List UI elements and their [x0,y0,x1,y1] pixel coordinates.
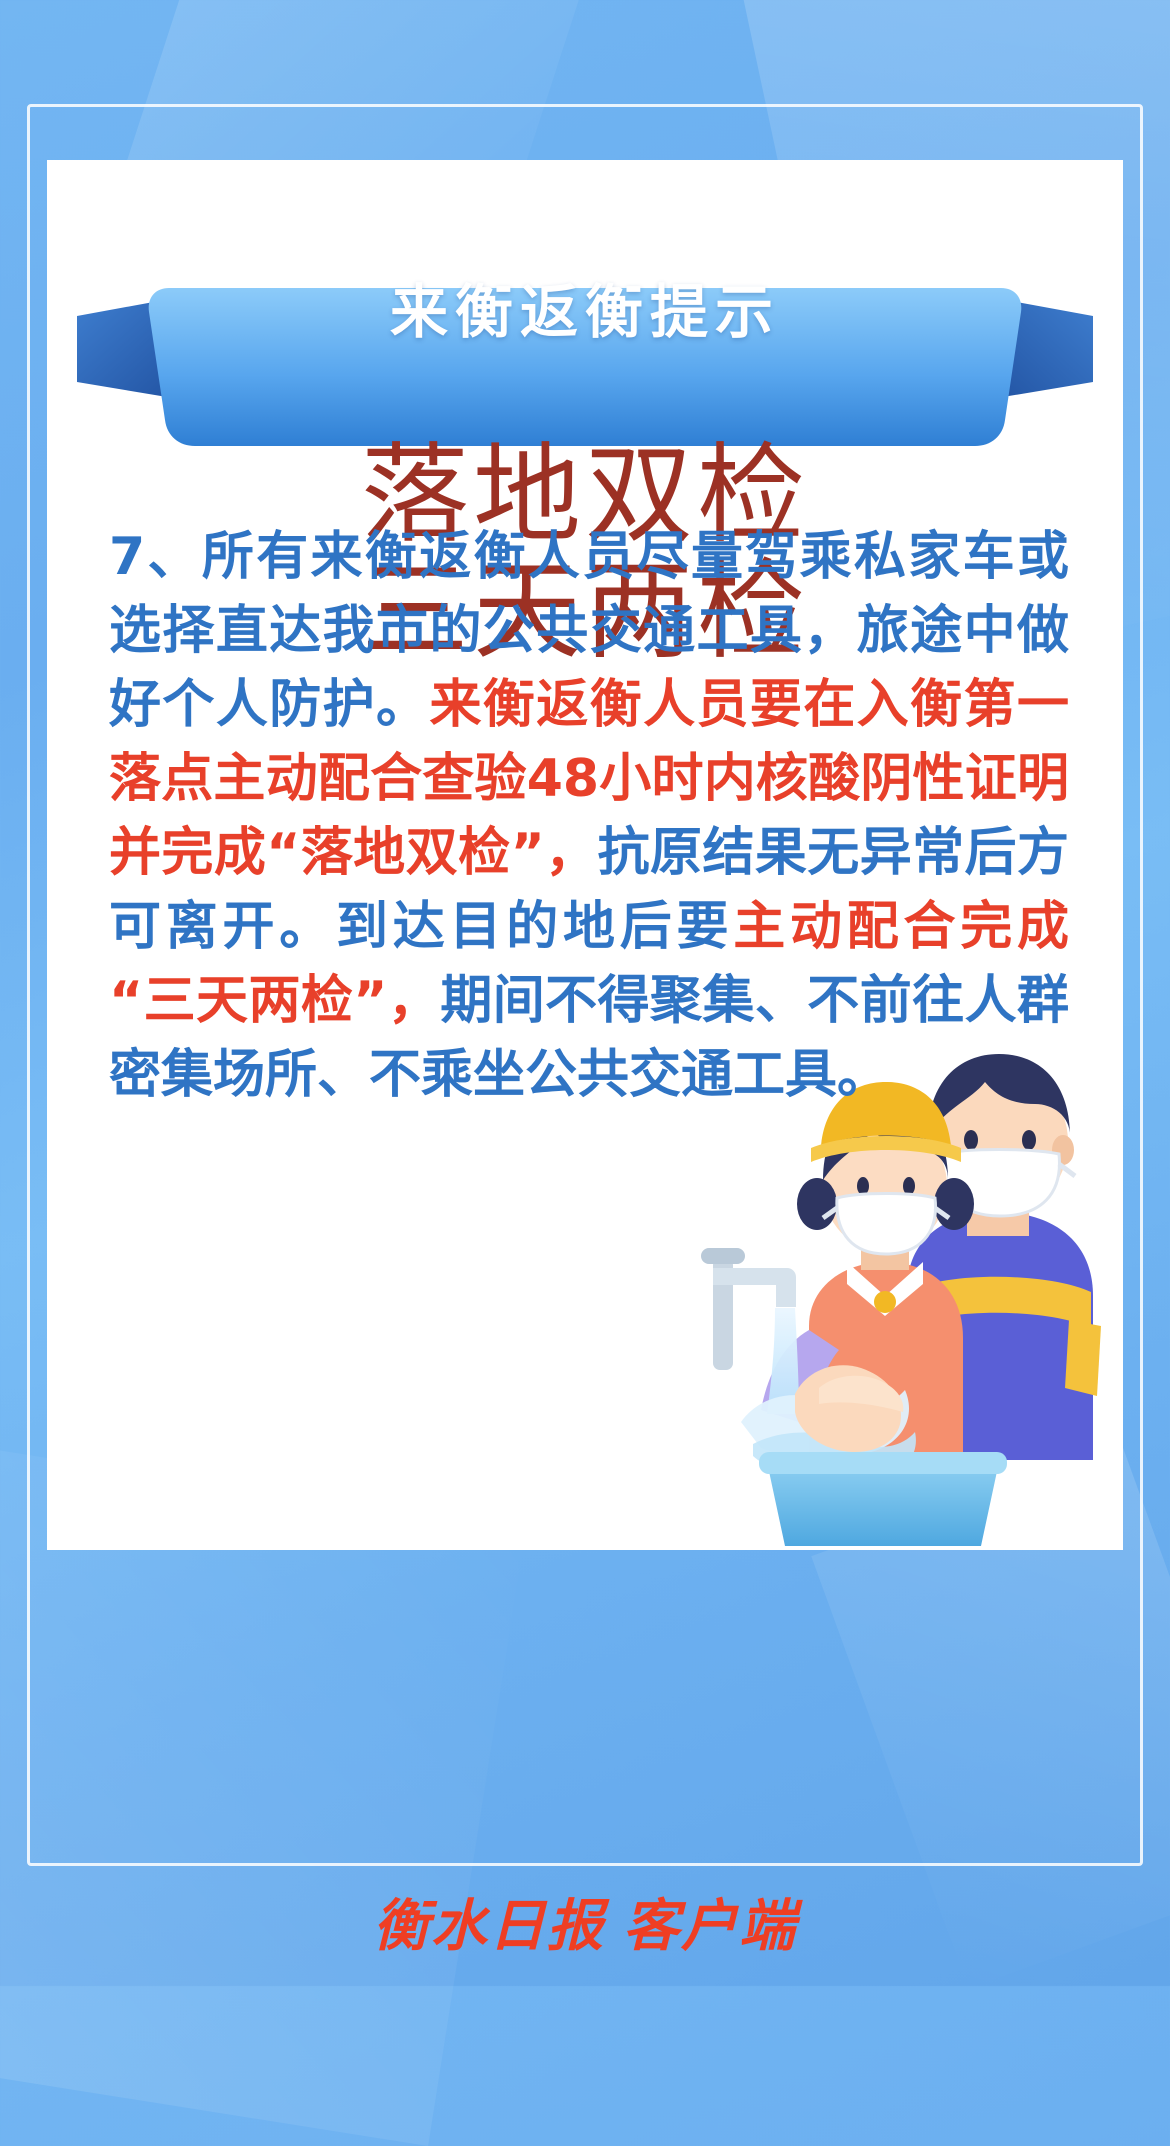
body-paragraph: 7、所有来衡返衡人员尽量驾乘私家车或选择直达我市的公共交通工具，旅途中做好个人防… [109,520,1069,1112]
poster-card: 来衡返衡提示 落地双检 三天两检 [47,160,1123,1550]
footer-app-name: 客户端 [623,1893,797,1959]
footer-brand: 衡水日报客户端 [0,1894,1170,1958]
footer-brand-name: 衡水日报 [373,1893,605,1959]
banner-title: 来衡返衡提示 [47,278,1123,346]
